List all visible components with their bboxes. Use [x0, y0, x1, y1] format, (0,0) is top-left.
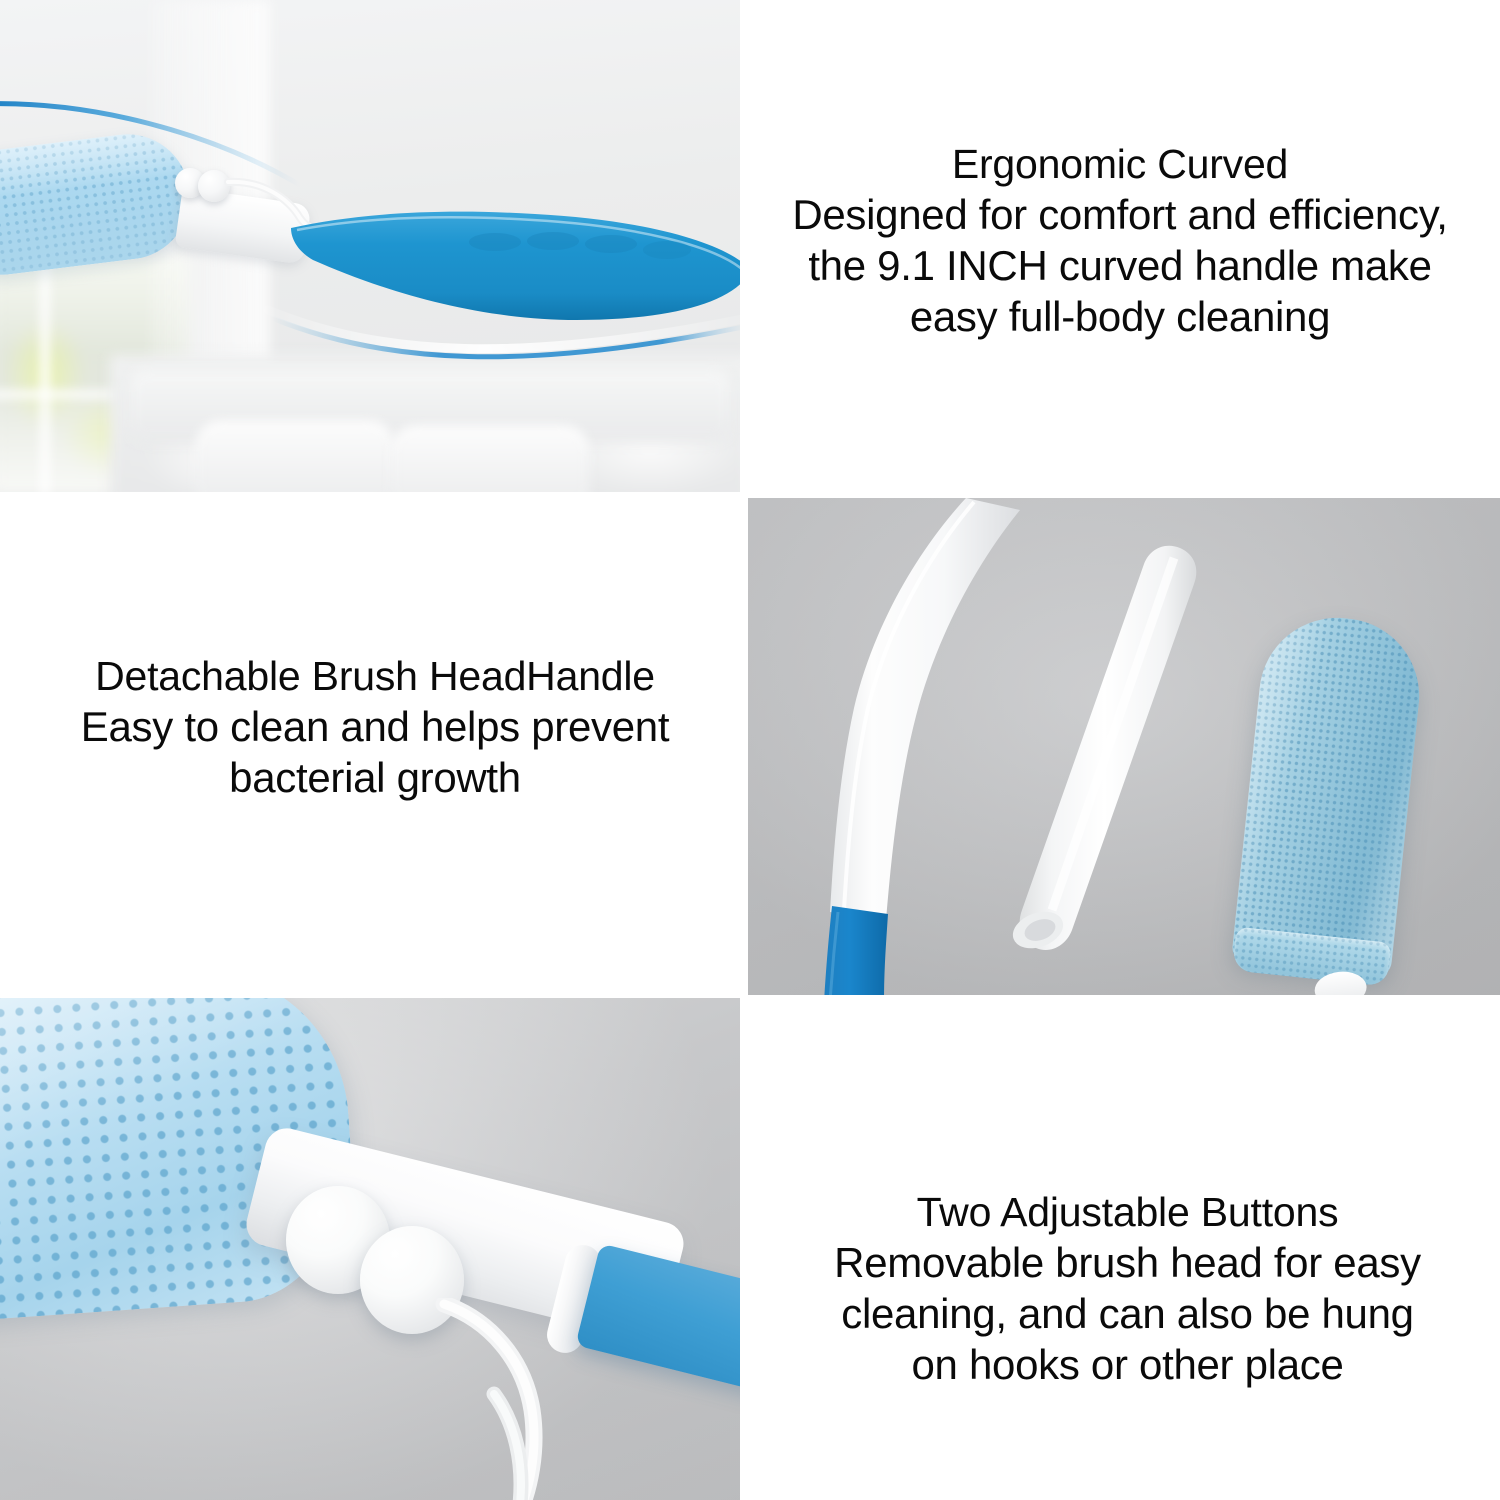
feature-headline: Ergonomic Curved: [760, 140, 1480, 189]
feature-body-line: the 9.1 INCH curved handle make: [760, 240, 1480, 291]
feature-text-two-adjustable-buttons: Two Adjustable Buttons Removable brush h…: [770, 1188, 1485, 1390]
feature-headline: Two Adjustable Buttons: [770, 1188, 1485, 1237]
feature-body-line: Removable brush head for easy: [770, 1237, 1485, 1288]
sofa-cushion-right: [390, 425, 590, 492]
feature-body-line: cleaning, and can also be hung: [770, 1288, 1485, 1339]
feature-body: Removable brush head for easy cleaning, …: [770, 1237, 1485, 1390]
product-feature-infographic: Ergonomic Curved Designed for comfort an…: [0, 0, 1500, 1500]
feature-body: Designed for comfort and efficiency, the…: [760, 189, 1480, 342]
feature-body-line: easy full-body cleaning: [760, 291, 1480, 342]
feature-body-line: on hooks or other place: [770, 1339, 1485, 1390]
feature-body-line: Designed for comfort and efficiency,: [760, 189, 1480, 240]
lifestyle-product-photo: [0, 0, 740, 492]
feature-body-line: bacterial growth: [20, 752, 730, 803]
foam-tube-part: [1008, 538, 1268, 968]
sofa-cushion-left: [195, 420, 395, 492]
window-mullion-vertical: [40, 255, 50, 492]
detached-parts-photo: [748, 498, 1500, 995]
feature-text-ergonomic-curved: Ergonomic Curved Designed for comfort an…: [760, 140, 1480, 342]
blue-curved-grip: [285, 208, 740, 326]
feature-body: Easy to clean and helps prevent bacteria…: [20, 701, 730, 803]
feature-body-line: Easy to clean and helps prevent: [20, 701, 730, 752]
feature-headline: Detachable Brush HeadHandle: [20, 652, 730, 701]
feature-text-detachable-brush-head: Detachable Brush HeadHandle Easy to clea…: [20, 652, 730, 803]
hanging-cord-loop: [420, 1298, 630, 1500]
adjustable-buttons-closeup-photo: [0, 998, 740, 1500]
